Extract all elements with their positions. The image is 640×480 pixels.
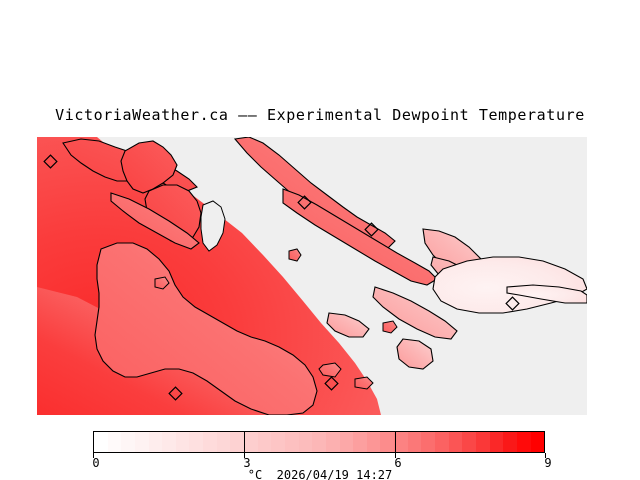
colorbar-segment-32	[531, 432, 545, 452]
colorbar-segment-16	[312, 432, 326, 452]
colorbar-segment-9	[217, 432, 231, 452]
colorbar-segment-7	[189, 432, 203, 452]
colorbar-segment-31	[517, 432, 531, 452]
colorbar-segment-29	[490, 432, 504, 452]
colorbar-segment-19	[353, 432, 367, 452]
colorbar-segment-10	[230, 432, 244, 452]
colorbar-segment-5	[162, 432, 176, 452]
colorbar-segment-28	[476, 432, 490, 452]
colorbar-segment-11	[244, 432, 258, 452]
colorbar-divider-3	[244, 431, 245, 453]
colorbar-segment-21	[380, 432, 394, 452]
colorbar-caption: °C 2026/04/19 14:27	[0, 468, 640, 480]
colorbar-divider-6	[395, 431, 396, 453]
map-canvas[interactable]	[37, 137, 587, 415]
colorbar-segment-23	[408, 432, 422, 452]
colorbar-segment-20	[367, 432, 381, 452]
colorbar-segment-4	[149, 432, 163, 452]
colorbar-segment-2	[121, 432, 135, 452]
colorbar-segment-25	[435, 432, 449, 452]
colorbar: 0 3 6 9 °C 2026/04/19 14:27	[0, 425, 640, 480]
colorbar-segment-27	[462, 432, 476, 452]
colorbar-segment-17	[326, 432, 340, 452]
colorbar-segment-12	[258, 432, 272, 452]
colorbar-segment-13	[271, 432, 285, 452]
colorbar-segment-26	[449, 432, 463, 452]
map-svg	[37, 137, 587, 415]
page-title: VictoriaWeather.ca —— Experimental Dewpo…	[0, 106, 640, 124]
colorbar-segment-18	[340, 432, 354, 452]
colorbar-segment-14	[285, 432, 299, 452]
colorbar-gradient	[93, 431, 545, 453]
colorbar-segment-1	[108, 432, 122, 452]
weather-map-page: VictoriaWeather.ca —— Experimental Dewpo…	[0, 0, 640, 480]
colorbar-segment-24	[421, 432, 435, 452]
colorbar-segment-8	[203, 432, 217, 452]
colorbar-segment-3	[135, 432, 149, 452]
colorbar-segment-0	[94, 432, 108, 452]
colorbar-segment-22	[394, 432, 408, 452]
colorbar-segment-6	[176, 432, 190, 452]
colorbar-segment-30	[503, 432, 517, 452]
colorbar-segment-15	[299, 432, 313, 452]
